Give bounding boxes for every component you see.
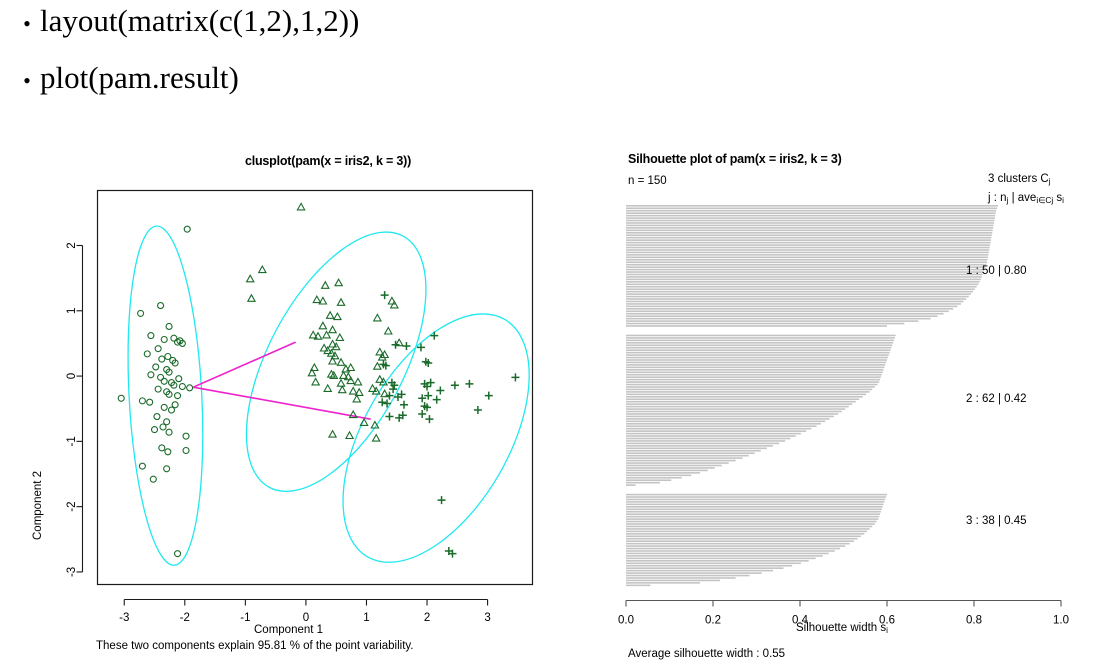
- silhouette-bar: [626, 215, 995, 217]
- silhouette-bar: [626, 548, 840, 550]
- silhouette-bar: [626, 423, 821, 425]
- silhouette-footer: Average silhouette width : 0.55: [628, 648, 785, 660]
- silhouette-bar: [626, 455, 749, 457]
- silhouette-bar: [626, 210, 996, 212]
- silhouette-bar: [626, 499, 885, 501]
- silhouette-bar: [626, 389, 872, 391]
- silhouette-bar: [626, 291, 973, 293]
- silhouette-bar: [626, 538, 857, 540]
- silhouette-bar: [626, 408, 845, 410]
- clusplot-y-tick: -2: [66, 502, 78, 512]
- silhouette-bar: [626, 362, 886, 364]
- silhouette-bar: [626, 535, 861, 537]
- silhouette-bar: [626, 550, 835, 552]
- silhouette-bar: [626, 261, 987, 263]
- silhouette-bar: [626, 545, 845, 547]
- silhouette-bar: [626, 286, 977, 288]
- slide-bullet-list: • layout(matrix(c(1,2),1,2)) • plot(pam.…: [0, 0, 620, 95]
- silhouette-canvas: 0.00.20.40.60.81.0: [556, 140, 1112, 670]
- silhouette-bar: [626, 264, 986, 266]
- silhouette-bar: [626, 340, 894, 342]
- silhouette-bar: [626, 475, 691, 477]
- silhouette-bar: [626, 396, 863, 398]
- silhouette-bar: [626, 205, 998, 207]
- silhouette-bar: [626, 450, 761, 452]
- silhouette-bar: [626, 222, 994, 224]
- silhouette-bar: [626, 585, 650, 587]
- bullet-marker-icon: •: [14, 69, 40, 94]
- silhouette-bar: [626, 381, 879, 383]
- clusplot-x-tick: 2: [424, 612, 430, 624]
- silhouette-bar: [626, 440, 785, 442]
- silhouette-bar: [626, 257, 988, 259]
- silhouette-bar: [626, 572, 762, 574]
- silhouette-bar: [626, 379, 880, 381]
- silhouette-x-tick: 0.0: [618, 615, 634, 627]
- silhouette-bar: [626, 376, 881, 378]
- silhouette-bar: [626, 580, 720, 582]
- silhouette-bar: [626, 555, 823, 557]
- silhouette-bar: [626, 425, 817, 427]
- clusplot-y-tick: 0: [66, 373, 78, 379]
- silhouette-bar: [626, 354, 889, 356]
- silhouette-bar: [626, 237, 991, 239]
- silhouette-bar: [626, 323, 904, 325]
- silhouette-bar: [626, 518, 878, 520]
- silhouette-bar: [626, 570, 773, 572]
- silhouette-bar: [626, 212, 996, 214]
- silhouette-bar: [626, 567, 783, 569]
- silhouette-bar: [626, 357, 888, 359]
- silhouette-bar: [626, 276, 982, 278]
- silhouette-bar: [626, 269, 984, 271]
- silhouette-bar: [626, 244, 990, 246]
- silhouette-bar: [626, 303, 961, 305]
- silhouette-bar: [626, 540, 854, 542]
- silhouette-bar: [626, 386, 875, 388]
- clusplot-y-tick: -3: [66, 567, 78, 577]
- silhouette-bar: [626, 465, 722, 467]
- silhouette-x-tick: 0.8: [966, 615, 982, 627]
- silhouette-bar: [626, 325, 887, 327]
- silhouette-bar: [626, 506, 883, 508]
- silhouette-bar: [626, 477, 682, 479]
- silhouette-bar: [626, 364, 885, 366]
- silhouette-bar: [626, 220, 994, 222]
- silhouette-bar: [626, 225, 994, 227]
- silhouette-bar: [626, 560, 809, 562]
- silhouette-bar: [626, 367, 884, 369]
- bullet-item: • plot(pam.result): [0, 39, 620, 96]
- silhouette-bar: [626, 374, 882, 376]
- silhouette-bar: [626, 433, 801, 435]
- silhouette-bar: [626, 352, 890, 354]
- silhouette-bar: [626, 207, 997, 209]
- silhouette-bar: [626, 479, 671, 481]
- clusplot-x-tick: -2: [180, 612, 190, 624]
- silhouette-bar: [626, 284, 978, 286]
- silhouette-bar: [626, 472, 700, 474]
- silhouette-bar: [626, 484, 636, 486]
- silhouette-bar: [626, 359, 887, 361]
- silhouette-bar: [626, 428, 811, 430]
- silhouette-bar: [626, 430, 806, 432]
- silhouette-cluster-label-3: 3 : 38 | 0.45: [966, 515, 1027, 527]
- silhouette-bar: [626, 347, 891, 349]
- silhouette-bar: [626, 320, 918, 322]
- silhouette-cluster-label-1: 1 : 50 | 0.80: [966, 265, 1027, 277]
- silhouette-bar: [626, 494, 887, 496]
- silhouette-bar: [626, 371, 883, 373]
- silhouette-bar: [626, 335, 896, 337]
- silhouette-bar: [626, 252, 989, 254]
- clusplot-x-axis-label: Component 1: [254, 624, 323, 636]
- silhouette-bar: [626, 582, 700, 584]
- clusplot-canvas: -3-2-10123210-1-2-3: [0, 140, 556, 670]
- silhouette-bar: [626, 279, 981, 281]
- silhouette-bar: [626, 349, 890, 351]
- clusplot-x-tick: -3: [119, 612, 129, 624]
- clusplot-y-tick: 2: [66, 242, 78, 248]
- silhouette-bar: [626, 293, 971, 295]
- bullet-marker-icon: •: [14, 12, 40, 37]
- clusplot-x-tick: -1: [240, 612, 250, 624]
- silhouette-bar: [626, 394, 866, 396]
- silhouette-bar: [626, 448, 767, 450]
- silhouette-bar: [626, 416, 834, 418]
- silhouette-bar: [626, 217, 995, 219]
- silhouette-bar: [626, 298, 966, 300]
- silhouette-bar: [626, 501, 884, 503]
- silhouette-bar: [626, 318, 931, 320]
- silhouette-bar: [626, 528, 870, 530]
- silhouette-bar: [626, 470, 708, 472]
- silhouette-bar: [626, 562, 801, 564]
- silhouette-bar: [626, 457, 743, 459]
- silhouette-bar: [626, 274, 983, 276]
- silhouette-bar: [626, 411, 842, 413]
- silhouette-cluster-label-2: 2 : 62 | 0.42: [966, 393, 1027, 405]
- silhouette-bar: [626, 565, 792, 567]
- silhouette-bar: [626, 421, 825, 423]
- silhouette-bar: [626, 445, 773, 447]
- silhouette-bar: [626, 462, 729, 464]
- silhouette-bar: [626, 413, 838, 415]
- silhouette-bar: [626, 234, 992, 236]
- clusplot-caption: These two components explain 95.81 % of …: [96, 640, 414, 652]
- silhouette-bar: [626, 310, 949, 312]
- silhouette-bar: [626, 398, 859, 400]
- clusplot-x-tick: 0: [303, 612, 309, 624]
- clusplot-y-tick: 1: [66, 308, 78, 314]
- silhouette-bar: [626, 523, 875, 525]
- bullet-item: • layout(matrix(c(1,2),1,2)): [0, 0, 620, 39]
- clusplot-x-tick: 3: [484, 612, 490, 624]
- silhouette-bar: [626, 516, 879, 518]
- silhouette-bar: [626, 418, 830, 420]
- silhouette-cluster-group-2: [626, 335, 896, 486]
- silhouette-cluster-group-3: [626, 494, 887, 586]
- silhouette-bar: [626, 301, 964, 303]
- silhouette-bar: [626, 526, 872, 528]
- silhouette-bar: [626, 281, 980, 283]
- silhouette-bar: [626, 531, 867, 533]
- silhouette-bar: [626, 259, 987, 261]
- silhouette-bar: [626, 254, 988, 256]
- silhouette-bar: [626, 435, 796, 437]
- silhouette-bar: [626, 403, 852, 405]
- bullet-text: plot(pam.result): [40, 61, 239, 96]
- silhouette-bar: [626, 337, 895, 339]
- silhouette-bar: [626, 315, 937, 317]
- silhouette-bar: [626, 577, 736, 579]
- silhouette-bar: [626, 443, 779, 445]
- silhouette-bar: [626, 533, 864, 535]
- silhouette-bar: [626, 227, 993, 229]
- silhouette-bar: [626, 575, 750, 577]
- silhouette-bar: [626, 553, 829, 555]
- silhouette-x-tick: 1.0: [1053, 615, 1069, 627]
- bullet-text: layout(matrix(c(1,2),1,2)): [40, 4, 359, 39]
- silhouette-x-axis-label-sub: i: [886, 626, 888, 635]
- silhouette-bar: [626, 460, 736, 462]
- silhouette-bar: [626, 452, 755, 454]
- silhouette-bar: [626, 467, 715, 469]
- silhouette-bar: [626, 266, 985, 268]
- silhouette-bar: [626, 342, 893, 344]
- silhouette-bar: [626, 384, 877, 386]
- silhouette-figure: Silhouette plot of pam(x = iris2, k = 3)…: [556, 140, 1112, 670]
- silhouette-bar: [626, 513, 880, 515]
- clusplot-y-axis-label: Component 2: [32, 471, 44, 540]
- silhouette-bar: [626, 508, 882, 510]
- silhouette-bar: [626, 232, 992, 234]
- silhouette-bar: [626, 482, 660, 484]
- silhouette-bar: [626, 230, 993, 232]
- clusplot-y-tick: -1: [66, 436, 78, 446]
- silhouette-bar: [626, 308, 953, 310]
- silhouette-bar: [626, 496, 886, 498]
- silhouette-bar: [626, 344, 892, 346]
- silhouette-bar: [626, 391, 870, 393]
- silhouette-bar: [626, 239, 991, 241]
- silhouette-bar: [626, 406, 849, 408]
- silhouette-bar: [626, 249, 989, 251]
- silhouette-bar: [626, 511, 881, 513]
- silhouette-bar: [626, 288, 975, 290]
- silhouette-bar: [626, 521, 877, 523]
- clusplot-x-tick: 1: [363, 612, 369, 624]
- silhouette-bar: [626, 504, 884, 506]
- silhouette-bar: [626, 543, 850, 545]
- clusplot-figure: clusplot(pam(x = iris2, k = 3)) -3-2-101…: [0, 140, 556, 670]
- silhouette-cluster-group-1: [626, 205, 998, 327]
- silhouette-x-axis-label-main: Silhouette width s: [796, 622, 886, 634]
- silhouette-bar: [626, 313, 944, 315]
- silhouette-bar: [626, 271, 984, 273]
- silhouette-x-tick: 0.2: [705, 615, 721, 627]
- silhouette-bar: [626, 247, 990, 249]
- silhouette-x-axis-label: Silhouette width si: [796, 622, 888, 635]
- silhouette-bar: [626, 438, 790, 440]
- silhouette-bar: [626, 242, 991, 244]
- silhouette-bar: [626, 369, 884, 371]
- silhouette-bar: [626, 306, 957, 308]
- silhouette-bar: [626, 558, 816, 560]
- silhouette-bar: [626, 401, 856, 403]
- silhouette-bar: [626, 296, 969, 298]
